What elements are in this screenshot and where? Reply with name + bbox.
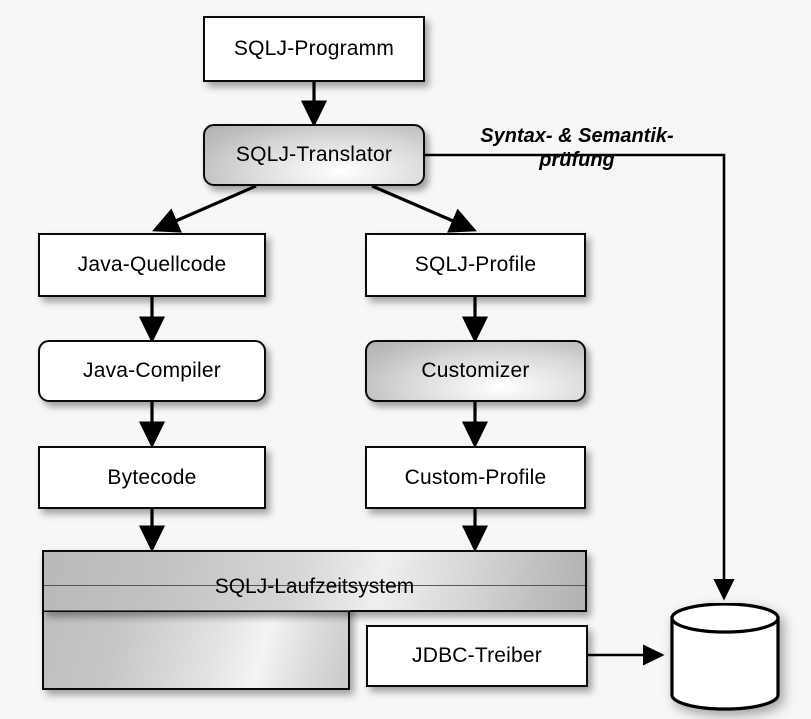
edge-translator-to-quellcode [155, 186, 256, 230]
edge-translator-to-profile [372, 186, 474, 230]
node-java-compiler[interactable]: Java-Compiler [38, 340, 266, 402]
node-jdbc-treiber-label: JDBC-Treiber [412, 644, 542, 667]
node-java-quellcode[interactable]: Java-Quellcode [38, 233, 266, 297]
diagram-canvas: SQLJ-Programm SQLJ-Translator Java-Quell… [0, 0, 811, 719]
node-java-compiler-label: Java-Compiler [83, 359, 221, 382]
node-customizer-label: Customizer [421, 359, 529, 382]
node-customizer[interactable]: Customizer [365, 340, 586, 402]
node-java-quellcode-label: Java-Quellcode [78, 253, 227, 276]
database-cylinder-icon[interactable] [669, 603, 781, 711]
runtime-hairline-lower [44, 610, 350, 611]
annotation-line-2: prüfung [452, 149, 702, 173]
node-custom-profile[interactable]: Custom-Profile [365, 446, 586, 509]
annotation-line-1: Syntax- & Semantik- [452, 125, 702, 149]
node-sqlj-programm[interactable]: SQLJ-Programm [203, 16, 425, 82]
node-bytecode-label: Bytecode [107, 466, 196, 489]
node-sqlj-profile-label: SQLJ-Profile [415, 253, 536, 276]
node-sqlj-programm-label: SQLJ-Programm [234, 37, 394, 60]
runtime-hairline-upper [44, 585, 585, 586]
node-sqlj-profile[interactable]: SQLJ-Profile [365, 233, 586, 297]
node-custom-profile-label: Custom-Profile [405, 466, 547, 489]
node-sqlj-laufzeitsystem-bar[interactable] [42, 550, 587, 612]
node-sqlj-translator-label: SQLJ-Translator [236, 143, 392, 166]
node-jdbc-treiber[interactable]: JDBC-Treiber [366, 625, 588, 687]
node-sqlj-translator[interactable]: SQLJ-Translator [203, 124, 425, 186]
node-bytecode[interactable]: Bytecode [38, 446, 266, 509]
annotation-syntax-semantik: Syntax- & Semantik- prüfung [452, 125, 702, 172]
